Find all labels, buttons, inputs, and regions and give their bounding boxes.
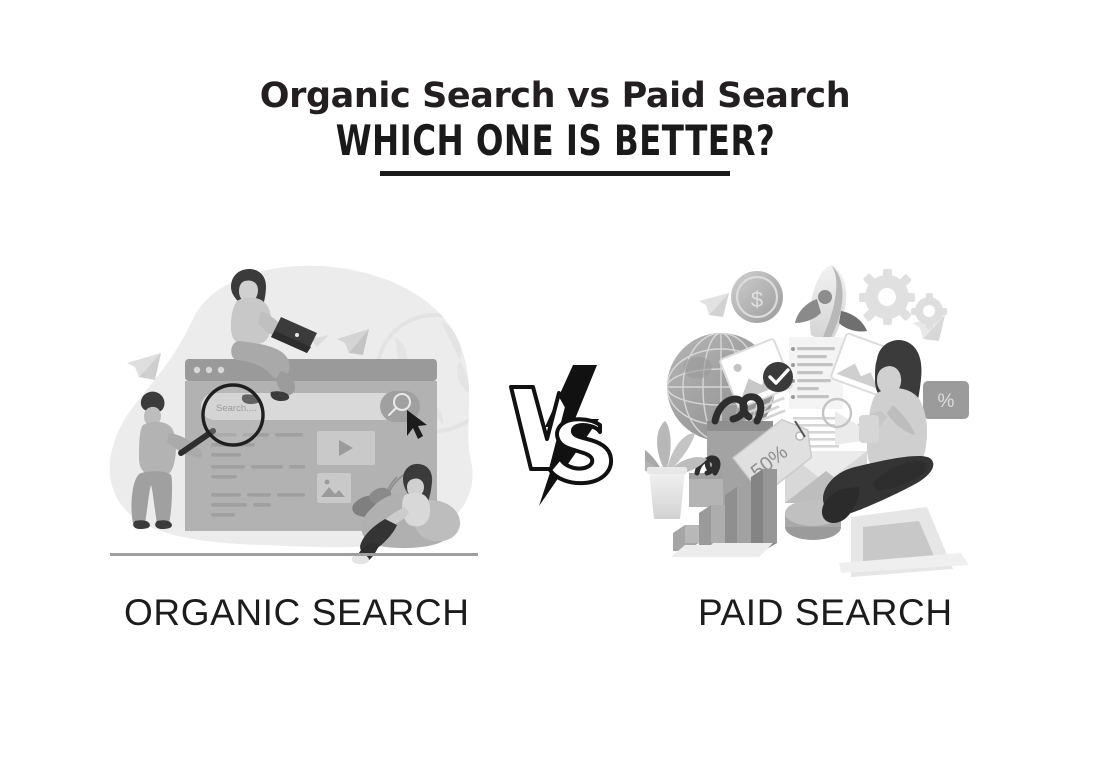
- organic-search-illustration: Search....: [85, 255, 505, 585]
- image-thumbnail[interactable]: [317, 473, 351, 503]
- paid-search-artwork: $: [645, 255, 995, 585]
- paper-plane-icon: [699, 293, 729, 317]
- ground-line: [110, 553, 478, 556]
- magnifier-lens: [203, 385, 263, 445]
- titlebar-dots: [194, 367, 224, 373]
- paid-search-illustration: $: [645, 255, 995, 585]
- dollar-coin-label: $: [751, 287, 763, 312]
- laptop: [839, 507, 969, 577]
- caption-paid-search: PAID SEARCH: [698, 592, 953, 634]
- title-underline: [380, 171, 730, 176]
- versus-badge: VS: [505, 363, 615, 508]
- checkmark-badge: [763, 362, 793, 392]
- page-title: Organic Search vs Paid Search: [0, 78, 1110, 115]
- paper-plane-icon: [127, 353, 161, 380]
- versus-artwork: VS: [505, 363, 615, 508]
- dollar-coin: $: [731, 271, 783, 323]
- caption-organic-search: ORGANIC SEARCH: [124, 592, 470, 634]
- gear-icon: [859, 269, 915, 325]
- organic-search-artwork: Search....: [85, 255, 505, 585]
- page-subtitle-wrap: WHICH ONE IS BETTER?: [0, 120, 1110, 162]
- heading-block: Organic Search vs Paid Search WHICH ONE …: [0, 78, 1110, 176]
- percent-badge-label: %: [938, 391, 955, 412]
- percent-badge: %: [923, 381, 969, 419]
- video-thumbnail[interactable]: [317, 431, 375, 465]
- page-subtitle: WHICH ONE IS BETTER?: [335, 120, 774, 162]
